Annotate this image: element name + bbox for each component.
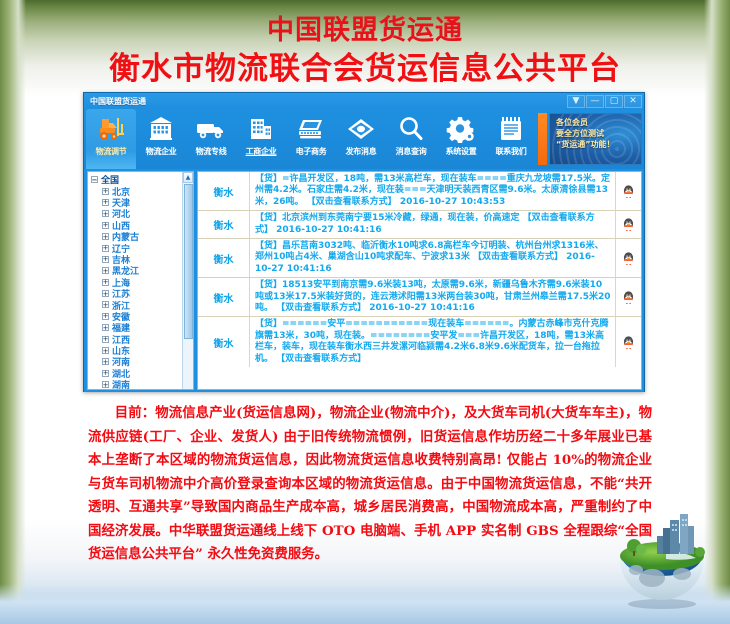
window-titlebar: 中国联盟货运通 ▼ — ▢ ✕ [84,93,644,109]
region-tree-panel: − 全国 +北京+天津+河北+山西+内蒙古+辽宁+吉林+黑龙江+上海+江苏+浙江… [87,171,194,390]
toolbar-item-fabu-xiaoxi[interactable]: 发布消息 [336,109,386,169]
forklift-icon [96,113,126,145]
toolbar-item-wuliu-zhuanxian[interactable]: 物流专线 [186,109,236,169]
toolbar-label: 物流调节 [96,146,127,157]
description-text: 目前：物流信息产业(货运信息网)，物流企业(物流中介)，及大货车司机(大货车车主… [88,402,652,567]
row-content[interactable]: 【货】18513安平到南京需9.6米装13吨，太原需9.6米，新疆乌鲁木齐需9.… [250,278,615,316]
row-qq-cell[interactable] [615,172,641,210]
tree-node-16[interactable]: +湖北 [91,368,193,379]
tree-node-2[interactable]: +河北 [91,208,193,219]
tree-expand-icon[interactable]: + [102,245,109,252]
tree-expand-icon[interactable]: + [102,290,109,297]
qq-penguin-icon[interactable] [623,291,634,304]
page-title-primary: 中国联盟货运通 [0,14,730,48]
maximize-icon[interactable]: ▢ [605,95,623,108]
qq-penguin-icon[interactable] [623,185,634,198]
tree-node-10[interactable]: +浙江 [91,299,193,310]
tree-node-11[interactable]: +安徽 [91,311,193,322]
promo-line-3: “货运通”功能！ [556,139,641,150]
toolbar-label: 电子商务 [296,146,327,157]
toolbar-label: 发布消息 [346,146,377,157]
page-header: 中国联盟货运通 衡水市物流联合会货运信息公共平台 [0,0,730,88]
tree-node-1[interactable]: +天津 [91,197,193,208]
row-timestamp: 2016-10-27 10:41:16 [369,303,474,313]
tree-node-17[interactable]: +湖南 [91,379,193,390]
scroll-up-icon[interactable]: ▲ [183,172,193,183]
row-city: 衡水 [198,317,250,367]
window-controls: ▼ — ▢ ✕ [567,93,642,109]
row-city: 衡水 [198,172,250,210]
table-row[interactable]: 衡水【货】昌乐莒南3032吨、临沂衡水10吨求6.8高栏车今订明装、杭州台州求1… [198,239,641,278]
tree-node-12[interactable]: +福建 [91,322,193,333]
tree-expand-icon[interactable]: + [102,188,109,195]
row-qq-cell[interactable] [615,239,641,277]
freight-list-table: 衡水【货】=许昌开发区，18吨，需13米高栏车，现在装车====重庆九龙坡需17… [197,171,642,390]
toolbar-item-gongshang-qiye[interactable]: 工商企业 [236,109,286,169]
row-city: 衡水 [198,278,250,316]
ecommerce-icon [296,113,326,145]
promo-line-1: 各位会员 [556,117,641,128]
tree-expand-icon[interactable]: + [102,210,109,217]
tree-expand-icon[interactable]: + [102,199,109,206]
row-timestamp: 2016-10-27 10:43:53 [400,197,505,207]
tree-node-root[interactable]: − 全国 [91,174,193,185]
qq-penguin-icon[interactable] [623,218,634,231]
tree-expand-icon[interactable]: + [102,381,109,388]
row-message: 【货】昌乐莒南3032吨、临沂衡水10吨求6.8高栏车今订明装、杭州台州求131… [255,241,604,262]
toolbar-label: 消息查询 [396,146,427,157]
toolbar-item-wuliu-tiaojie[interactable]: 物流调节 [86,109,136,169]
tree-node-7[interactable]: +黑龙江 [91,265,193,276]
qq-penguin-icon[interactable] [623,336,634,349]
background-edge-left [0,0,26,624]
row-content[interactable]: 【货】昌乐莒南3032吨、临沂衡水10吨求6.8高栏车今订明装、杭州台州求131… [250,239,615,277]
toolbar-item-wuliu-qiye[interactable]: 物流企业 [136,109,186,169]
search-icon [397,113,425,145]
row-city: 衡水 [198,239,250,277]
document-icon [498,113,524,145]
tree-expand-icon[interactable]: + [102,233,109,240]
envelope-icon [346,113,376,145]
toolbar-label: 物流专线 [196,146,227,157]
row-qq-cell[interactable] [615,278,641,316]
tree-expand-icon[interactable]: + [102,267,109,274]
tree-node-3[interactable]: +山西 [91,220,193,231]
close-icon[interactable]: ✕ [624,95,642,108]
toolbar-label: 工商企业 [246,146,277,157]
page-title-secondary: 衡水市物流联合会货运信息公共平台 [0,50,730,88]
main-toolbar: 物流调节 物流企业 [84,109,644,169]
toolbar-divider [538,113,547,165]
tree-node-9[interactable]: +江苏 [91,288,193,299]
qq-penguin-icon[interactable] [623,252,634,265]
scrollbar-thumb[interactable] [184,184,193,339]
toolbar-item-xitong-shezhi[interactable]: 系统设置 [436,109,486,169]
truck-icon [195,113,227,145]
tree-node-0[interactable]: +北京 [91,185,193,196]
description-paragraph: 目前：物流信息产业(货运信息网)，物流企业(物流中介)，及大货车司机(大货车车主… [88,402,652,567]
table-row[interactable]: 衡水【货】======安平===========现在装车======。内蒙古赤峰… [198,317,641,367]
tree-node-5[interactable]: +辽宁 [91,242,193,253]
row-timestamp: 2016-10-27 10:41:16 [276,225,381,235]
toolbar-item-dianzi-shangwu[interactable]: 电子商务 [286,109,336,169]
tree-expand-icon[interactable]: + [102,336,109,343]
tree-node-13[interactable]: +江西 [91,333,193,344]
row-qq-cell[interactable] [615,211,641,238]
window-title: 中国联盟货运通 [90,96,146,107]
row-content[interactable]: 【货】======安平===========现在装车======。内蒙古赤峰市克… [250,317,615,367]
tree-expand-icon[interactable]: + [102,347,109,354]
tree-expand-icon[interactable]: + [102,222,109,229]
tree-node-8[interactable]: +上海 [91,277,193,288]
row-content[interactable]: 【货】北京滨州到东莞南宁要15米冷藏，绿通，现在装，价高速定 【双击查看联系方式… [250,211,615,238]
tree-expand-icon[interactable]: + [102,324,109,331]
tree-expand-icon[interactable]: + [102,279,109,286]
toolbar-label: 系统设置 [446,146,477,157]
tree-node-6[interactable]: +吉林 [91,254,193,265]
office-icon [247,113,275,145]
tree-collapse-icon[interactable]: − [91,176,98,183]
table-row[interactable]: 衡水【货】18513安平到南京需9.6米装13吨，太原需9.6米，新疆乌鲁木齐需… [198,278,641,317]
promo-line-2: 要全方位测试 [556,128,641,139]
promo-banner[interactable]: 各位会员 要全方位测试 “货运通”功能！ [549,113,642,165]
application-body: − 全国 +北京+天津+河北+山西+内蒙古+辽宁+吉林+黑龙江+上海+江苏+浙江… [84,169,644,392]
menu-chevron-down-icon[interactable]: ▼ [567,95,585,108]
application-window: 中国联盟货运通 ▼ — ▢ ✕ 物流调节 [83,92,645,392]
tree-expand-icon[interactable]: + [102,370,109,377]
gear-icon [446,113,476,145]
table-row[interactable]: 衡水【货】北京滨州到东莞南宁要15米冷藏，绿通，现在装，价高速定 【双击查看联系… [198,211,641,239]
tree-expand-icon[interactable]: + [102,256,109,263]
tree-scrollbar[interactable]: ▲ [182,172,193,389]
row-message: 【货】======安平===========现在装车======。内蒙古赤峰市克… [255,319,608,363]
toolbar-label: 联系我们 [496,146,527,157]
tree-node-14[interactable]: +山东 [91,345,193,356]
building-icon [147,113,175,145]
table-row[interactable]: 衡水【货】=许昌开发区，18吨，需13米高栏车，现在装车====重庆九龙坡需17… [198,172,641,211]
toolbar-label: 物流企业 [146,146,177,157]
tree-node-4[interactable]: +内蒙古 [91,231,193,242]
minimize-icon[interactable]: — [586,95,604,108]
toolbar-item-lianxi-women[interactable]: 联系我们 [486,109,536,169]
tree-node-15[interactable]: +河南 [91,356,193,367]
row-qq-cell[interactable] [615,317,641,367]
globe-city-icon [608,506,716,610]
row-city: 衡水 [198,211,250,238]
toolbar-item-xiaoxi-chaxun[interactable]: 消息查询 [386,109,436,169]
tree-expand-icon[interactable]: + [102,301,109,308]
row-content[interactable]: 【货】=许昌开发区，18吨，需13米高栏车，现在装车====重庆九龙坡需17.5… [250,172,615,210]
tree-expand-icon[interactable]: + [102,313,109,320]
region-tree: − 全国 +北京+天津+河北+山西+内蒙古+辽宁+吉林+黑龙江+上海+江苏+浙江… [88,172,193,390]
tree-node-label: 湖南 [112,378,130,390]
tree-expand-icon[interactable]: + [102,358,109,365]
